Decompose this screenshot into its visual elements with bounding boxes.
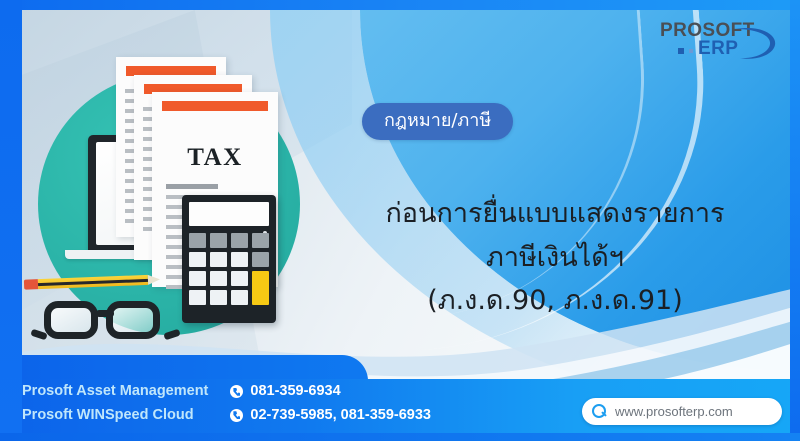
logo-swoosh-icon (732, 23, 778, 63)
headline: ก่อนการยื่นแบบแสดงรายการ ภาษีเงินได้ฯ (ภ… (340, 192, 770, 323)
document-header-bar (162, 101, 268, 111)
search-icon (592, 404, 607, 419)
frame-bottom (0, 433, 800, 441)
eyeglasses-icon (44, 301, 168, 343)
website-search-pill[interactable]: www.prosofterp.com (582, 398, 782, 425)
footer-contacts: Prosoft Asset Management Prosoft WINSpee… (22, 380, 431, 427)
tax-word-label: TAX (152, 144, 278, 172)
tax-illustration: TAX (30, 45, 340, 355)
prosoft-erp-logo[interactable]: PROSOFT ERP (660, 18, 778, 64)
phone-number-1: 081-359-6934 (250, 380, 340, 403)
frame-left (0, 0, 22, 441)
footer: Prosoft Asset Management Prosoft WINSpee… (0, 355, 800, 441)
footer-phone-numbers: 081-359-6934 02-739-5985, 081-359-6933 (230, 380, 431, 427)
phone-row-2[interactable]: 02-739-5985, 081-359-6933 (230, 404, 431, 427)
category-badge[interactable]: กฎหมาย/ภาษี (362, 103, 513, 140)
phone-icon (230, 385, 243, 398)
phone-number-2: 02-739-5985, 081-359-6933 (250, 404, 431, 427)
headline-line-3: (ภ.ง.ด.90, ภ.ง.ด.91) (340, 279, 770, 323)
phone-icon (230, 409, 243, 422)
website-url: www.prosofterp.com (615, 404, 733, 419)
product-name-2: Prosoft WINSpeed Cloud (22, 404, 208, 427)
frame-right (790, 0, 800, 441)
footer-product-names: Prosoft Asset Management Prosoft WINSpee… (22, 380, 208, 427)
calculator-keys (189, 233, 269, 305)
headline-line-1: ก่อนการยื่นแบบแสดงรายการ (340, 192, 770, 236)
product-name-1: Prosoft Asset Management (22, 380, 208, 403)
logo-square-dot-large (678, 48, 684, 54)
logo-square-dot-small (689, 49, 693, 53)
calculator-display (189, 202, 269, 226)
promo-banner: TAX PROSOFT ERP (0, 0, 800, 441)
calculator-icon (182, 195, 276, 323)
frame-top (0, 0, 800, 10)
headline-line-2: ภาษีเงินได้ฯ (340, 236, 770, 280)
phone-row-1[interactable]: 081-359-6934 (230, 380, 431, 403)
